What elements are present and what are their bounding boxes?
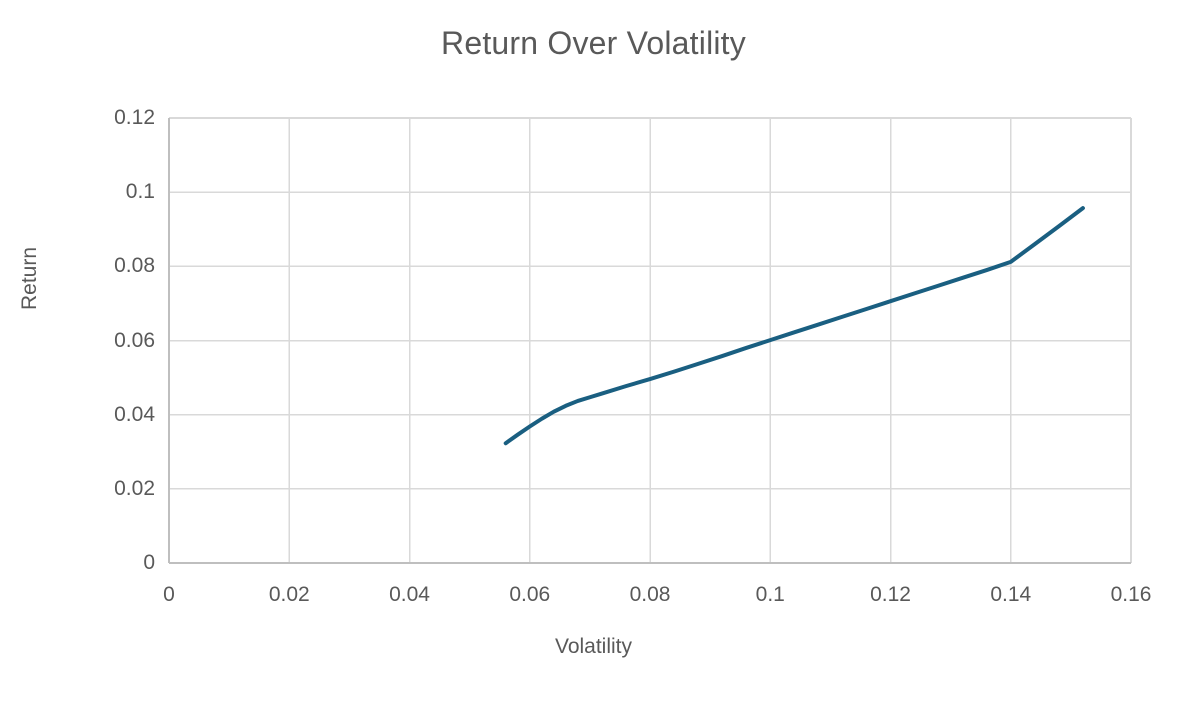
x-tick-label: 0.1	[756, 583, 785, 607]
x-tick-label: 0.06	[509, 583, 550, 607]
x-tick-label: 0.08	[630, 583, 671, 607]
x-tick-label: 0.02	[269, 583, 310, 607]
y-tick-label: 0.06	[0, 329, 155, 353]
y-tick-label: 0.04	[0, 403, 155, 427]
y-tick-label: 0.02	[0, 477, 155, 501]
grid-lines	[169, 118, 1131, 563]
y-axis-title: Return	[18, 247, 42, 310]
x-tick-label: 0	[163, 583, 175, 607]
x-axis-title: Volatility	[0, 634, 1187, 660]
y-tick-label: 0	[0, 551, 155, 575]
x-tick-label: 0.16	[1111, 583, 1152, 607]
x-tick-label: 0.14	[990, 583, 1031, 607]
chart-container: Return Over Volatility 00.020.040.060.08…	[0, 0, 1187, 707]
y-tick-label: 0.12	[0, 106, 155, 130]
y-tick-label: 0.1	[0, 180, 155, 204]
data-line-series-0	[506, 208, 1083, 443]
data-series-group	[506, 208, 1083, 443]
x-tick-label: 0.04	[389, 583, 430, 607]
x-tick-label: 0.12	[870, 583, 911, 607]
